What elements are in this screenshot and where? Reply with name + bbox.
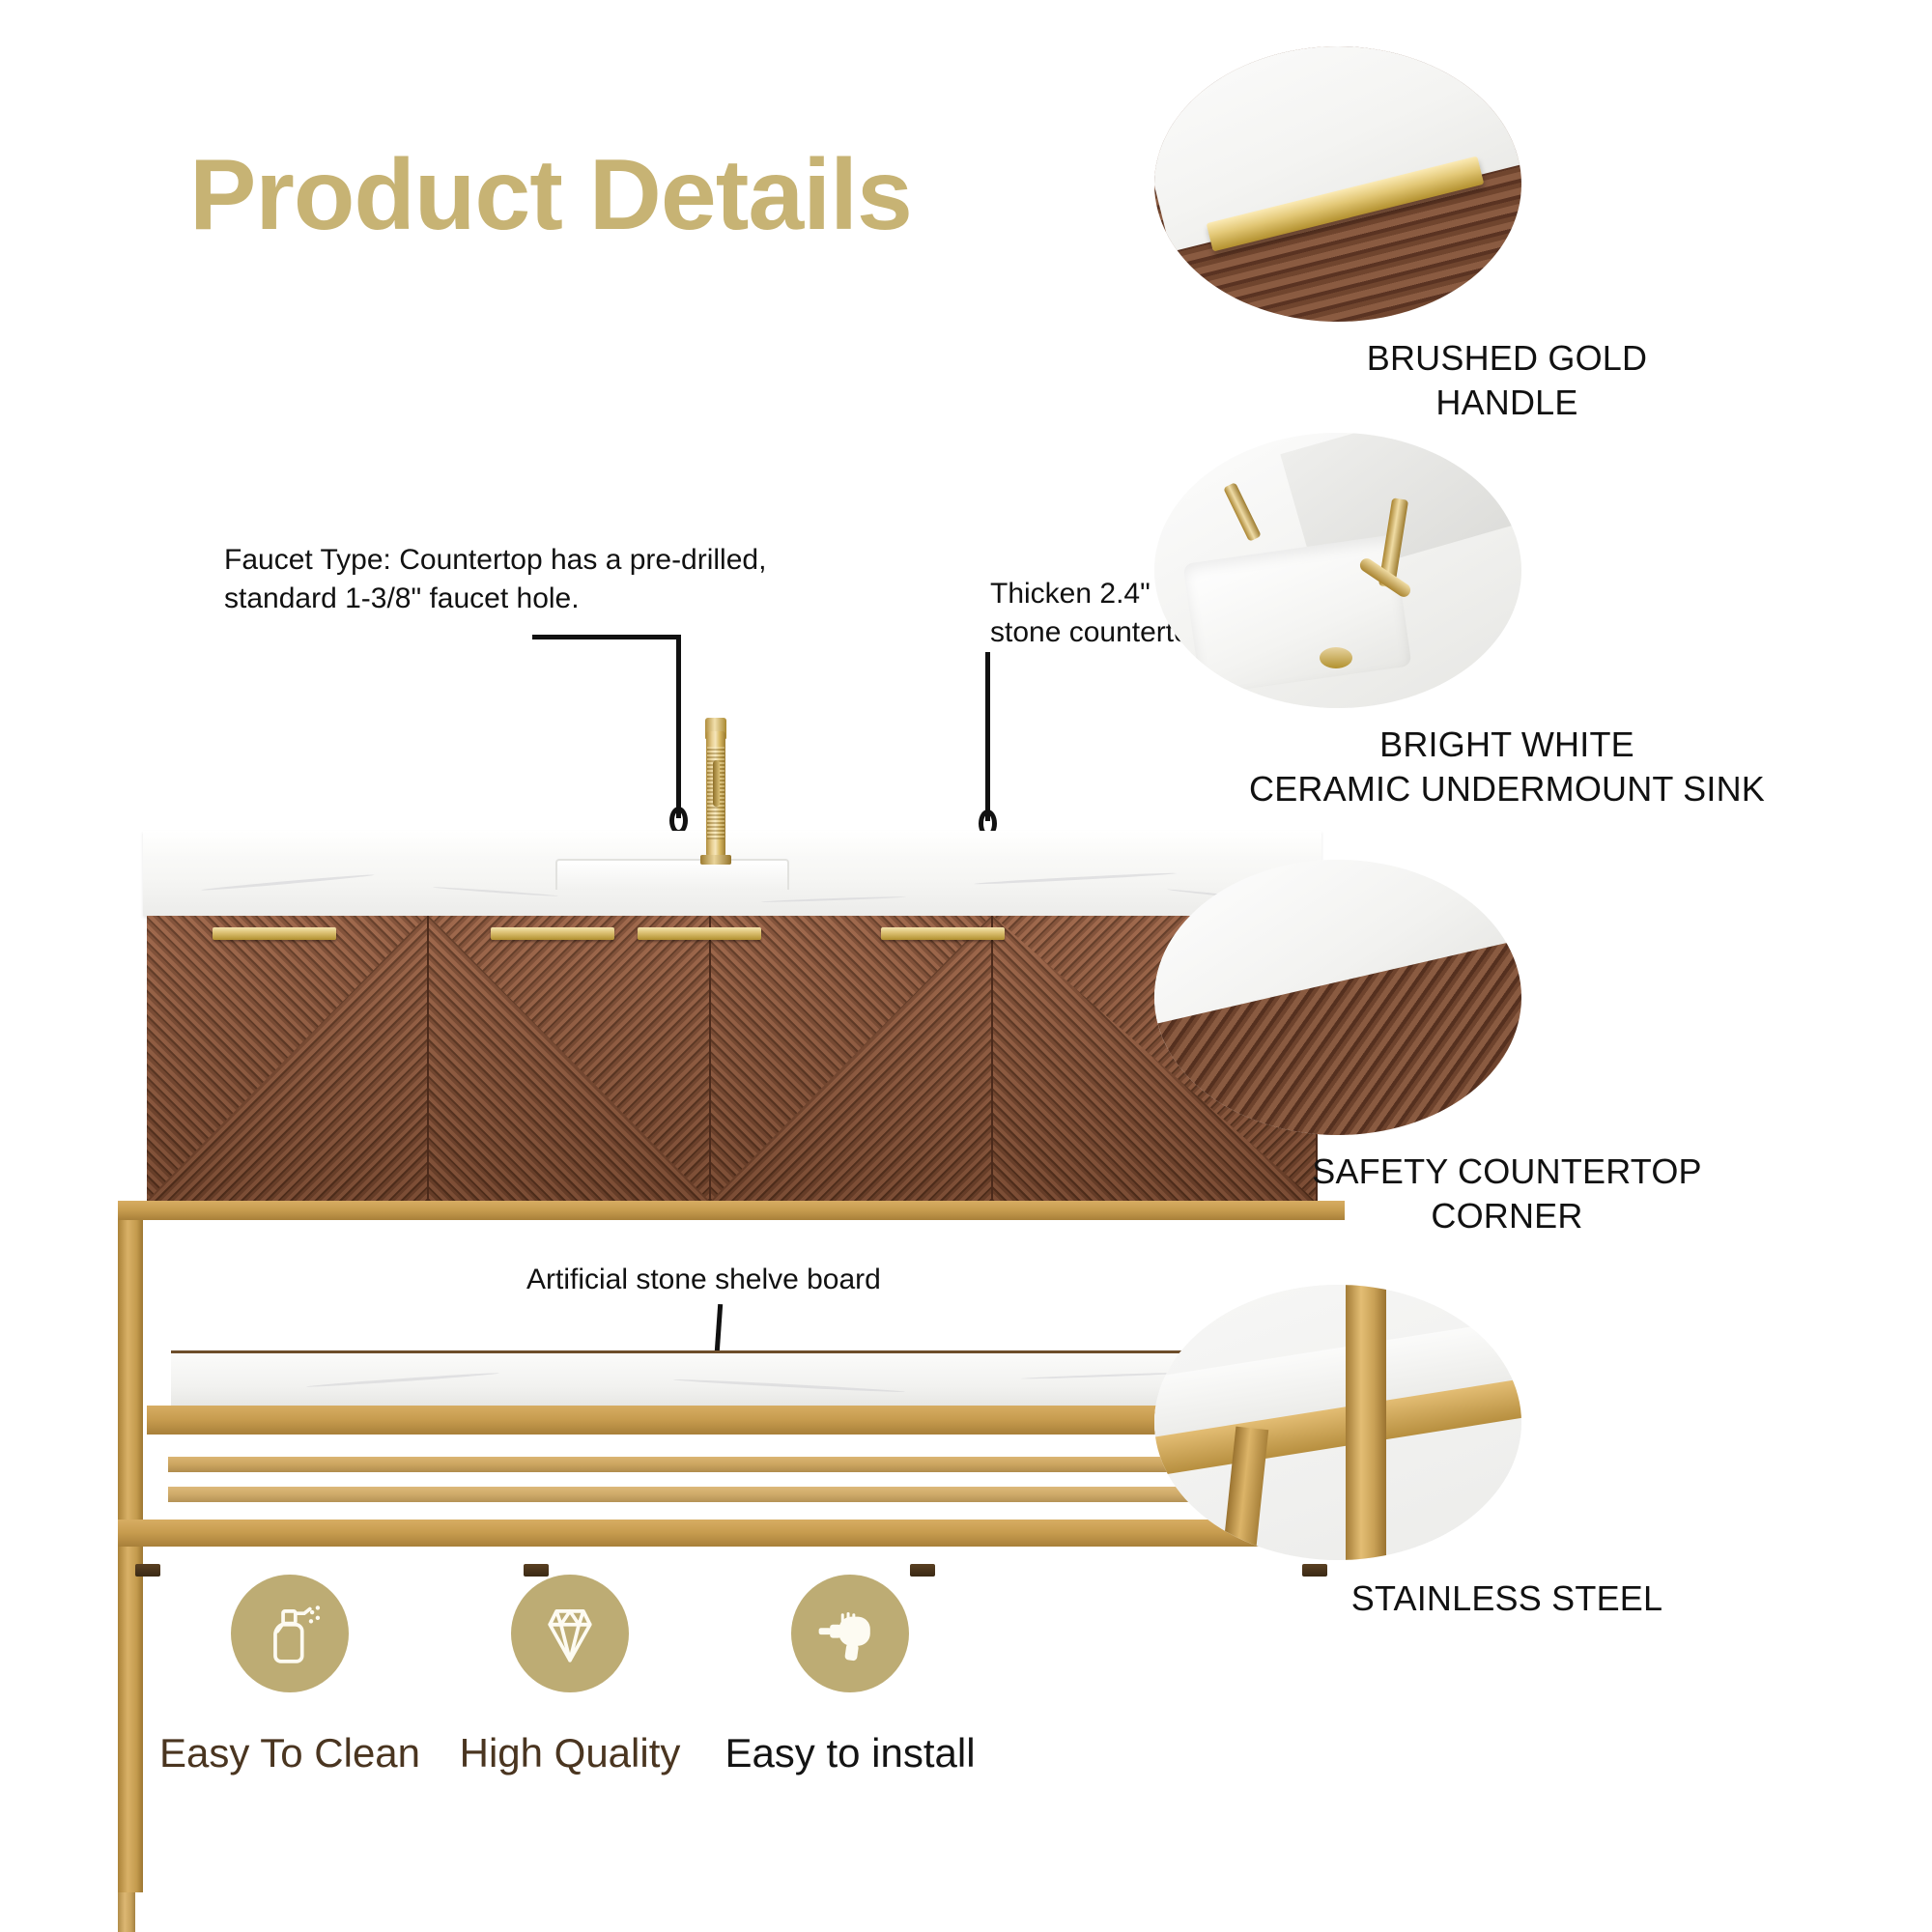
ceramic-undermount-sink-photo	[1154, 433, 1521, 708]
cabinet-door-3[interactable]	[711, 916, 993, 1201]
door-handle-3[interactable]	[638, 927, 761, 940]
brushed-gold-handle-photo	[1154, 46, 1521, 322]
door-handle-4[interactable]	[881, 927, 1005, 940]
badge-easy-to-clean: Easy To Clean	[145, 1575, 435, 1774]
cabinet-door-1[interactable]	[147, 916, 429, 1201]
stainless-steel-leg-photo	[1154, 1285, 1521, 1560]
frame-left-inner-post	[118, 1892, 135, 1932]
annotation-faucet-type: Faucet Type: Countertop has a pre-drille…	[224, 541, 823, 617]
feature-caption: BRIGHT WHITE CERAMIC UNDERMOUNT SINK	[1082, 723, 1932, 811]
gold-faucet	[702, 718, 729, 861]
power-drill-icon	[791, 1575, 909, 1692]
badge-high-quality: High Quality	[425, 1575, 715, 1774]
feature-caption: STAINLESS STEEL	[1082, 1577, 1932, 1621]
badge-easy-to-install: Easy to install	[705, 1575, 995, 1774]
cabinet-door-2[interactable]	[429, 916, 711, 1201]
frame-left-post	[118, 1201, 143, 1547]
vanity-illustration: Faucet Type: Countertop has a pre-drille…	[0, 541, 1082, 1565]
safety-countertop-corner-photo	[1154, 860, 1521, 1135]
badge-label: Easy to install	[705, 1733, 995, 1774]
badge-label: High Quality	[425, 1733, 715, 1774]
product-details-infographic: Product Details Faucet Type: Countertop …	[0, 0, 1932, 1932]
feature-caption: BRUSHED GOLD HANDLE	[1082, 336, 1932, 425]
door-handle-1[interactable]	[213, 927, 336, 940]
door-handle-2[interactable]	[491, 927, 614, 940]
feature-badges: Easy To Clean High Quality	[145, 1575, 1034, 1893]
page-title: Product Details	[189, 145, 912, 245]
feature-caption: SAFETY COUNTERTOP CORNER	[1082, 1150, 1932, 1238]
undermount-sink	[555, 859, 789, 890]
spray-bottle-icon	[231, 1575, 349, 1692]
badge-label: Easy To Clean	[145, 1733, 435, 1774]
feature-column: BRUSHED GOLD HANDLE BRIGHT WHITE CERAMIC…	[1082, 0, 1932, 1932]
frame-right-post	[118, 1547, 143, 1892]
diamond-icon	[511, 1575, 629, 1692]
